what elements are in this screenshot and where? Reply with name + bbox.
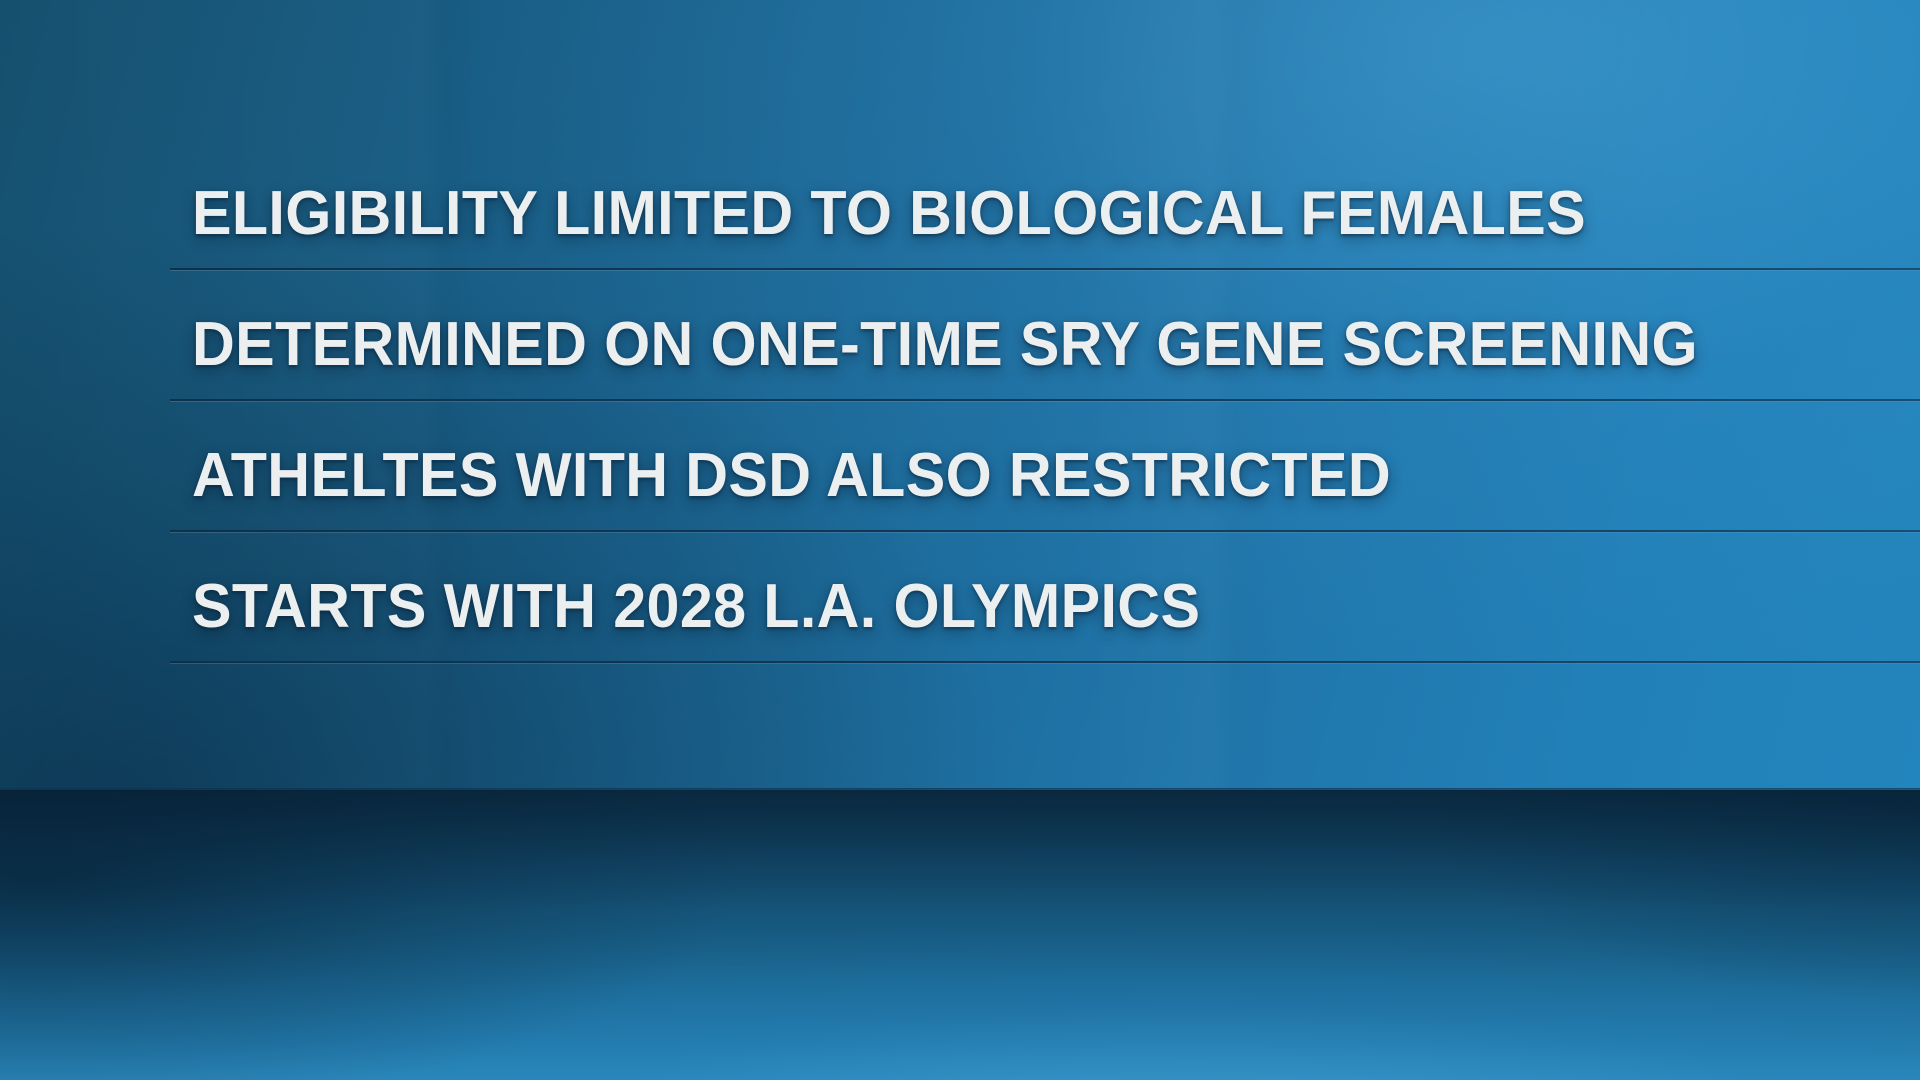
bullet-divider-4 (170, 661, 1920, 664)
bullet-label-1: ELIGIBILITY LIMITED TO BIOLOGICAL FEMALE… (192, 183, 1586, 245)
bullet-row: STARTS WITH 2028 L.A. OLYMPICS (170, 533, 1920, 664)
bullet-row: ELIGIBILITY LIMITED TO BIOLOGICAL FEMALE… (170, 140, 1920, 271)
bullet-label-4: STARTS WITH 2028 L.A. OLYMPICS (192, 576, 1200, 638)
bullet-row: ATHELTES WITH DSD ALSO RESTRICTED (170, 402, 1920, 533)
bullet-label-3: ATHELTES WITH DSD ALSO RESTRICTED (192, 445, 1391, 507)
bullet-row: DETERMINED ON ONE-TIME SRY GENE SCREENIN… (170, 271, 1920, 402)
divider-highlight-stroke (170, 663, 1920, 664)
broadcast-graphic-stage: ELIGIBILITY LIMITED TO BIOLOGICAL FEMALE… (0, 0, 1920, 1080)
bullet-list: ELIGIBILITY LIMITED TO BIOLOGICAL FEMALE… (170, 140, 1920, 664)
bullet-label-2: DETERMINED ON ONE-TIME SRY GENE SCREENIN… (192, 314, 1698, 376)
floor-contact-shadow (0, 790, 1920, 910)
